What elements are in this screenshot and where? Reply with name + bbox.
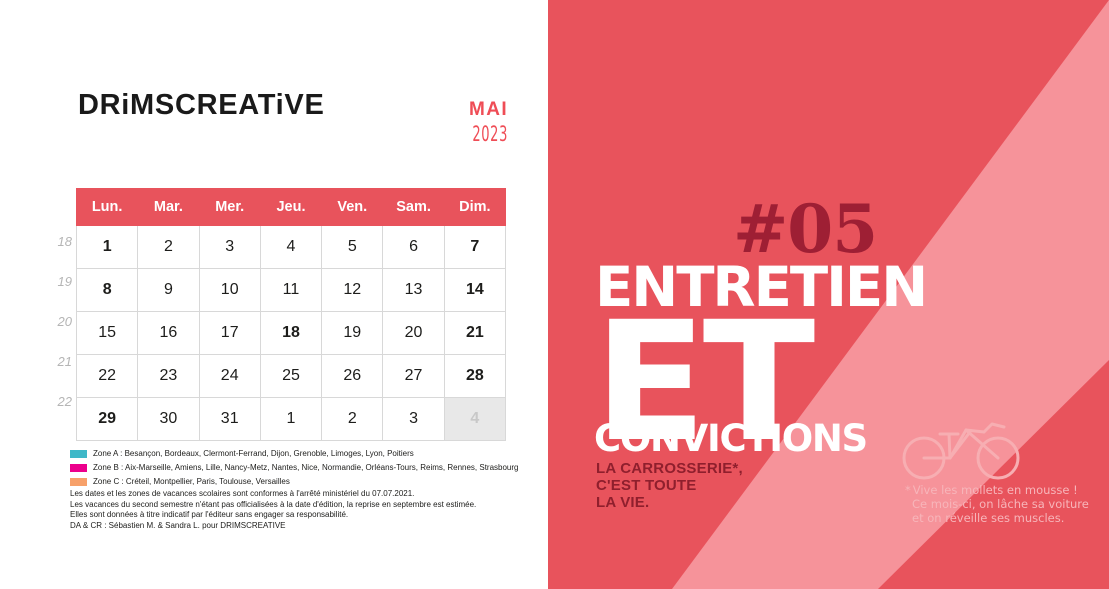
brand-logo: DRiMSCREATiVE [78,91,325,120]
day-header-lun: Lun. [77,189,138,226]
day-header-sam: Sam. [383,189,444,226]
legend-row-zone-a: Zone A : Besançon, Bordeaux, Clermont-Fe… [70,448,519,459]
footnote-line-2: Ce mois-ci, on lâche sa voiture [905,497,1089,511]
legend-row-zone-c: Zone C : Créteil, Montpellier, Paris, To… [70,476,519,487]
day-cell[interactable]: 1 [77,226,138,269]
month-label: MAI [420,100,508,119]
day-cell[interactable]: 29 [77,398,138,441]
day-cell[interactable]: 23 [138,355,199,398]
tagline-line-2: C'EST TOUTE [596,477,743,494]
footnote-star: * [905,483,911,497]
day-cell[interactable]: 26 [322,355,383,398]
day-header-mer: Mer. [199,189,260,226]
legend-row-zone-b: Zone B : Aix-Marseille, Amiens, Lille, N… [70,462,519,473]
disclaimer-line-4: DA & CR : Sébastien M. & Sandra L. pour … [70,521,476,532]
day-cell[interactable]: 4 [444,398,505,441]
day-cell[interactable]: 15 [77,312,138,355]
poster-tagline: LA CARROSSERIE*, C'EST TOUTE LA VIE. [596,460,743,511]
zone-legend: Zone A : Besançon, Bordeaux, Clermont-Fe… [70,448,519,490]
day-cell[interactable]: 28 [444,355,505,398]
table-row: 22 23 24 25 26 27 28 [77,355,506,398]
zone-b-swatch [70,464,87,472]
table-row: 29 30 31 1 2 3 4 [77,398,506,441]
day-cell[interactable]: 22 [77,355,138,398]
table-row: 1 2 3 4 5 6 7 [77,226,506,269]
day-cell[interactable]: 1 [260,398,321,441]
footnote-line-3: et on réveille ses muscles. [905,511,1089,525]
day-cell[interactable]: 18 [260,312,321,355]
week-number: 22 [46,382,72,422]
footnote-line-1: *Vive les mollets en mousse ! [905,483,1089,497]
day-cell[interactable]: 7 [444,226,505,269]
disclaimer-line-2: Les vacances du second semestre n'étant … [70,500,476,511]
footnote-block: *Vive les mollets en mousse ! Ce mois-ci… [905,483,1089,525]
day-header-mar: Mar. [138,189,199,226]
day-cell[interactable]: 25 [260,355,321,398]
day-cell[interactable]: 2 [322,398,383,441]
day-cell[interactable]: 3 [383,398,444,441]
week-number: 21 [46,342,72,382]
day-header-dim: Dim. [444,189,505,226]
day-cell[interactable]: 10 [199,269,260,312]
day-cell[interactable]: 9 [138,269,199,312]
day-cell[interactable]: 6 [383,226,444,269]
day-cell[interactable]: 21 [444,312,505,355]
day-cell[interactable]: 13 [383,269,444,312]
day-cell[interactable]: 31 [199,398,260,441]
day-cell[interactable]: 24 [199,355,260,398]
day-cell[interactable]: 14 [444,269,505,312]
day-cell[interactable]: 17 [199,312,260,355]
month-year-block: MAI 2023 [420,100,508,145]
footnote-text-1: Vive les mollets en mousse ! [913,483,1078,497]
day-cell[interactable]: 16 [138,312,199,355]
day-cell[interactable]: 4 [260,226,321,269]
week-number-column: 18 19 20 21 22 [46,222,72,422]
week-number: 18 [46,222,72,262]
tagline-line-1: LA CARROSSERIE*, [596,460,743,477]
year-label: 2023 [453,124,508,145]
day-cell[interactable]: 5 [322,226,383,269]
day-cell[interactable]: 11 [260,269,321,312]
tagline-line-3: LA VIE. [596,494,743,511]
day-cell[interactable]: 12 [322,269,383,312]
day-cell[interactable]: 20 [383,312,444,355]
zone-c-swatch [70,478,87,486]
bicycle-icon [900,418,1025,485]
calendar-table: Lun. Mar. Mer. Jeu. Ven. Sam. Dim. 1 2 3… [76,188,506,441]
disclaimer-block: Les dates et les zones de vacances scola… [70,489,476,531]
day-cell[interactable]: 2 [138,226,199,269]
day-header-ven: Ven. [322,189,383,226]
day-cell[interactable]: 8 [77,269,138,312]
zone-a-label: Zone A : Besançon, Bordeaux, Clermont-Fe… [93,449,414,458]
zone-c-label: Zone C : Créteil, Montpellier, Paris, To… [93,477,290,486]
table-row: 15 16 17 18 19 20 21 [77,312,506,355]
zone-b-label: Zone B : Aix-Marseille, Amiens, Lille, N… [93,463,519,472]
day-cell[interactable]: 27 [383,355,444,398]
calendar-page: DRiMSCREATiVE MAI 2023 18 19 20 21 22 Lu… [0,0,1109,589]
day-header-jeu: Jeu. [260,189,321,226]
issue-number: #05 [733,196,877,262]
table-row: 8 9 10 11 12 13 14 [77,269,506,312]
calendar-header-row: Lun. Mar. Mer. Jeu. Ven. Sam. Dim. [77,189,506,226]
day-cell[interactable]: 3 [199,226,260,269]
day-cell[interactable]: 19 [322,312,383,355]
disclaimer-line-3: Elles sont données à titre indicatif par… [70,510,476,521]
week-number: 19 [46,262,72,302]
day-cell[interactable]: 30 [138,398,199,441]
calendar-panel: DRiMSCREATiVE MAI 2023 18 19 20 21 22 Lu… [0,0,548,589]
zone-a-swatch [70,450,87,458]
poster-word-convictions: CONVICTIONS [594,420,867,457]
week-number: 20 [46,302,72,342]
disclaimer-line-1: Les dates et les zones de vacances scola… [70,489,476,500]
